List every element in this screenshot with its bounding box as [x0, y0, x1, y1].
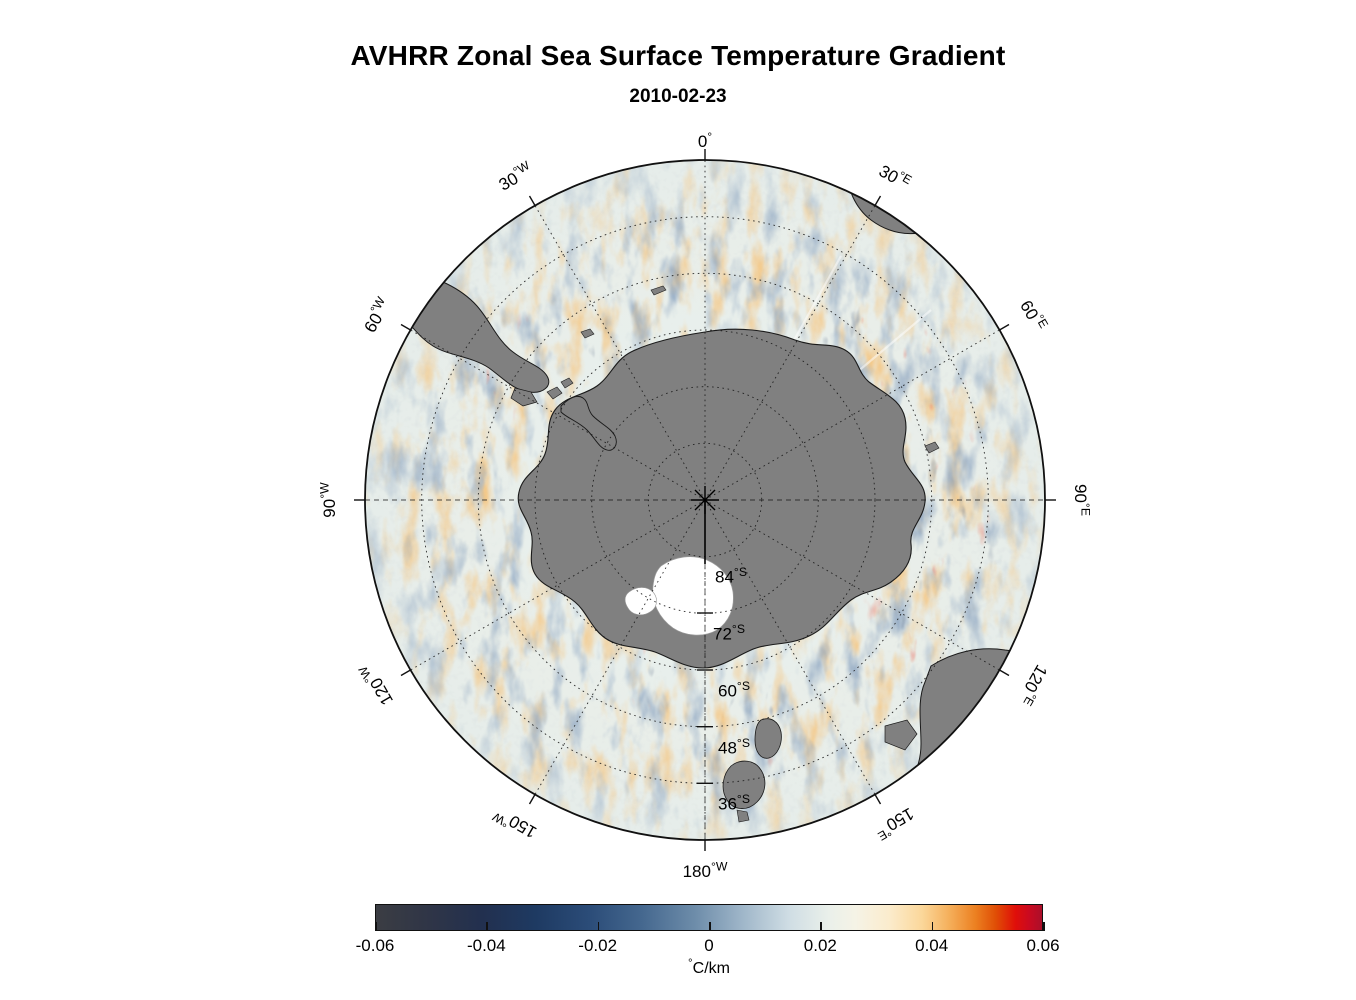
colorbar-ticklabel-4: 0.02 [804, 936, 837, 956]
lat-label-60s: 60°S [718, 679, 750, 702]
latitude-label-group: 84°S 72°S 60°S 48°S 36°S [365, 160, 1045, 840]
figure-subtitle: 2010-02-23 [0, 86, 1356, 108]
colorbar[interactable]: -0.06 -0.04 -0.02 0 0.02 0.04 0.06 [375, 904, 1043, 931]
page-title: AVHRR Zonal Sea Surface Temperature Grad… [0, 40, 1356, 72]
colorbar-tick-2 [598, 922, 600, 931]
colorbar-tick-1 [486, 922, 488, 931]
polar-map[interactable]: 0° 30°E 60°E 90°E 120°E 150°E 180°W 150°… [365, 160, 1045, 840]
lat-label-36s: 36°S [718, 792, 750, 815]
colorbar-ticklabel-2: -0.02 [578, 936, 617, 956]
colorbar-unit-label: °C/km [375, 960, 1043, 978]
colorbar-ticklabel-6: 0.06 [1026, 936, 1059, 956]
colorbar-tick-0 [375, 922, 377, 931]
lat-label-72s: 72°S [713, 622, 745, 645]
lat-label-48s: 48°S [718, 736, 750, 759]
colorbar-tick-3 [709, 922, 711, 931]
lon-label-90w: 90°W [320, 482, 340, 517]
colorbar-ticklabel-3: 0 [704, 936, 713, 956]
colorbar-tick-5 [932, 922, 934, 931]
lon-label-90e: 90°E [1070, 484, 1090, 516]
lon-label-0: 0° [698, 132, 712, 152]
colorbar-ticklabel-1: -0.04 [467, 936, 506, 956]
lat-label-84s: 84°S [715, 565, 747, 588]
colorbar-tick-6 [1043, 922, 1045, 931]
lon-label-180w: 180°W [683, 862, 728, 882]
figure-canvas: AVHRR Zonal Sea Surface Temperature Grad… [0, 0, 1356, 1000]
colorbar-tick-4 [820, 922, 822, 931]
colorbar-ticklabel-5: 0.04 [915, 936, 948, 956]
colorbar-unit-text: C/km [693, 960, 730, 977]
colorbar-ticklabel-0: -0.06 [356, 936, 395, 956]
